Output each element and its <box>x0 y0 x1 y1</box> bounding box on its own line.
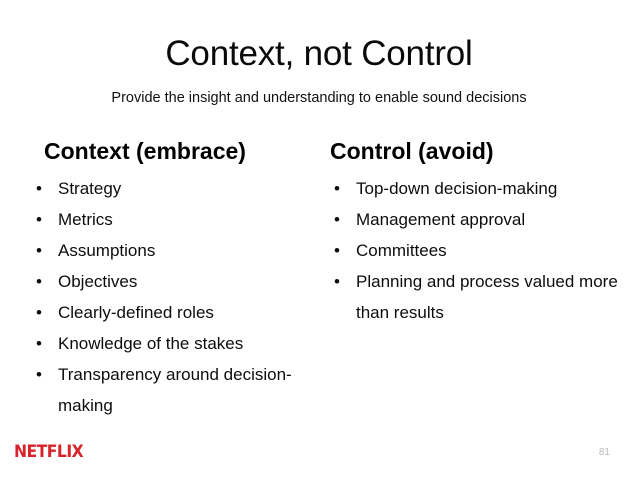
column-heading-context: Context (embrace) <box>22 137 322 165</box>
netflix-logo: NETFLIX <box>14 442 83 462</box>
list-item: • Knowledge of the stakes <box>22 328 322 359</box>
list-item-label: Committees <box>356 241 447 260</box>
page-title: Context, not Control <box>0 34 638 74</box>
column-control: Control (avoid) • Top-down decision-maki… <box>318 137 628 328</box>
list-item-label: Planning and process valued more than re… <box>356 272 618 322</box>
column-heading-control: Control (avoid) <box>318 137 628 165</box>
bullet-icon: • <box>36 297 42 328</box>
list-item: • Metrics <box>22 204 322 235</box>
slide: Context, not Control Provide the insight… <box>0 0 638 479</box>
bullet-icon: • <box>36 204 42 235</box>
page-number: 81 <box>599 446 610 460</box>
list-item: • Assumptions <box>22 235 322 266</box>
column-context: Context (embrace) • Strategy • Metrics •… <box>22 137 322 421</box>
bullet-icon: • <box>334 235 340 266</box>
list-item-label: Transparency around decision-making <box>58 365 292 415</box>
list-item-label: Clearly-defined roles <box>58 303 214 322</box>
slide-subtitle: Provide the insight and understanding to… <box>0 88 638 108</box>
list-item-label: Objectives <box>58 272 137 291</box>
list-item: • Strategy <box>22 173 322 204</box>
list-item: • Planning and process valued more than … <box>318 266 628 328</box>
bullet-icon: • <box>36 359 42 390</box>
bullet-icon: • <box>36 266 42 297</box>
list-item: • Clearly-defined roles <box>22 297 322 328</box>
bullet-list-control: • Top-down decision-making • Management … <box>318 173 628 328</box>
bullet-list-context: • Strategy • Metrics • Assumptions • Obj… <box>22 173 322 421</box>
list-item-label: Assumptions <box>58 241 155 260</box>
list-item: • Management approval <box>318 204 628 235</box>
bullet-icon: • <box>36 328 42 359</box>
bullet-icon: • <box>334 266 340 297</box>
bullet-icon: • <box>36 173 42 204</box>
list-item-label: Management approval <box>356 210 525 229</box>
bullet-icon: • <box>334 173 340 204</box>
list-item: • Top-down decision-making <box>318 173 628 204</box>
list-item: • Objectives <box>22 266 322 297</box>
bullet-icon: • <box>36 235 42 266</box>
list-item-label: Metrics <box>58 210 113 229</box>
list-item-label: Knowledge of the stakes <box>58 334 243 353</box>
bullet-icon: • <box>334 204 340 235</box>
list-item-label: Strategy <box>58 179 121 198</box>
list-item-label: Top-down decision-making <box>356 179 557 198</box>
columns-container: Context (embrace) • Strategy • Metrics •… <box>0 137 638 427</box>
list-item: • Committees <box>318 235 628 266</box>
list-item: • Transparency around decision-making <box>22 359 322 421</box>
